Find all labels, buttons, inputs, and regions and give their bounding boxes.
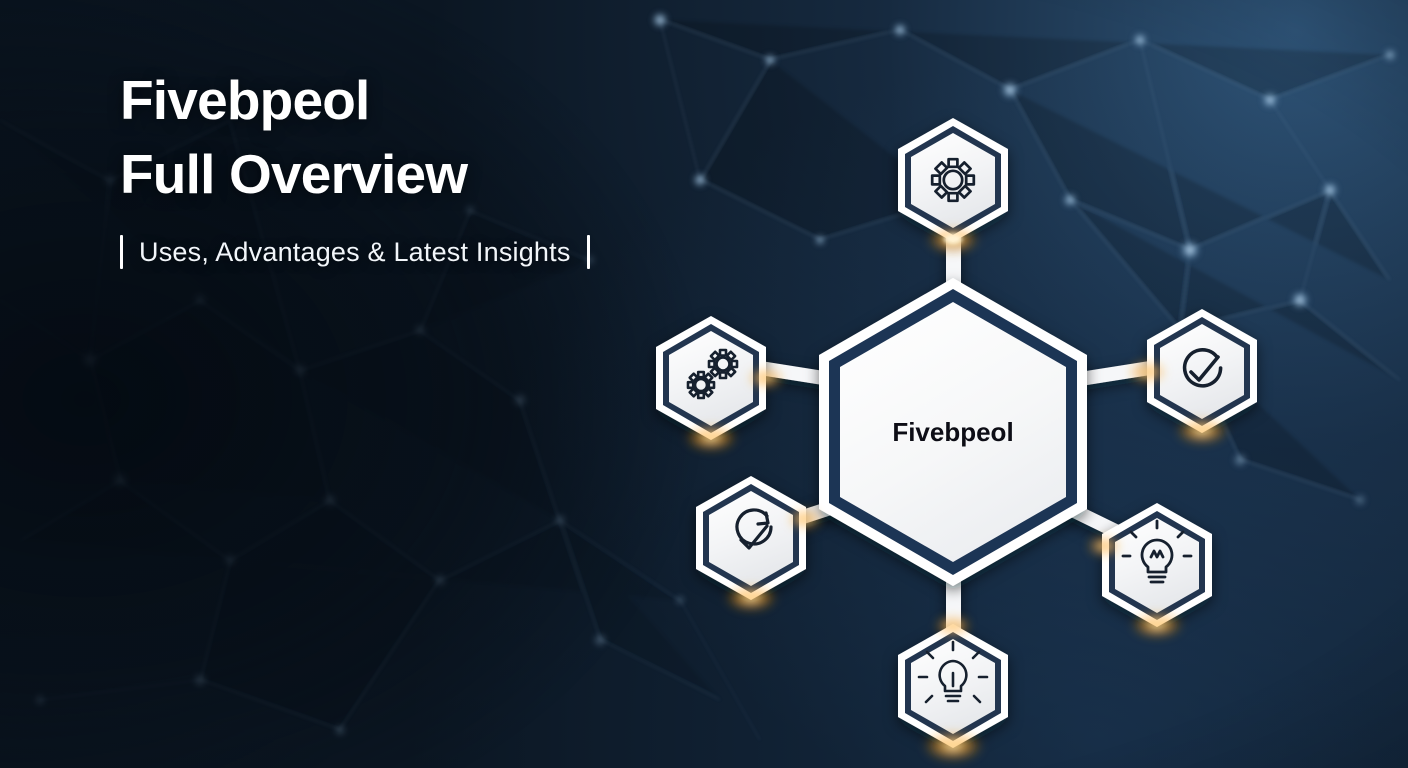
node-top[interactable] [898,118,1008,253]
hexagon-network-diagram: Fivebpeol [0,0,1408,768]
node-glow-left-vertex [748,368,784,388]
node-glow-bottom-right-vertex [1087,536,1121,556]
node-glow-left [685,425,737,451]
node-glow-bottom-vertex [935,616,971,636]
node-glow-bottom-left [725,585,777,611]
node-bottom[interactable] [898,616,1008,761]
node-glow-bottom-right [1131,612,1183,638]
slide-canvas: Fivebpeol Full Overview Uses, Advantages… [0,0,1408,768]
center-hexagon-label: Fivebpeol [892,417,1013,447]
node-glow-core-top [944,234,962,244]
node-glow-right-vertex [1128,361,1166,383]
node-bottom-left[interactable] [696,476,822,611]
node-glow-bottom [923,731,983,761]
node-right[interactable] [1128,309,1257,444]
node-glow-bottom-left-vertex [788,509,822,529]
node-left[interactable] [656,316,784,451]
center-hexagon[interactable]: Fivebpeol [819,278,1087,586]
node-glow-right [1176,418,1228,444]
